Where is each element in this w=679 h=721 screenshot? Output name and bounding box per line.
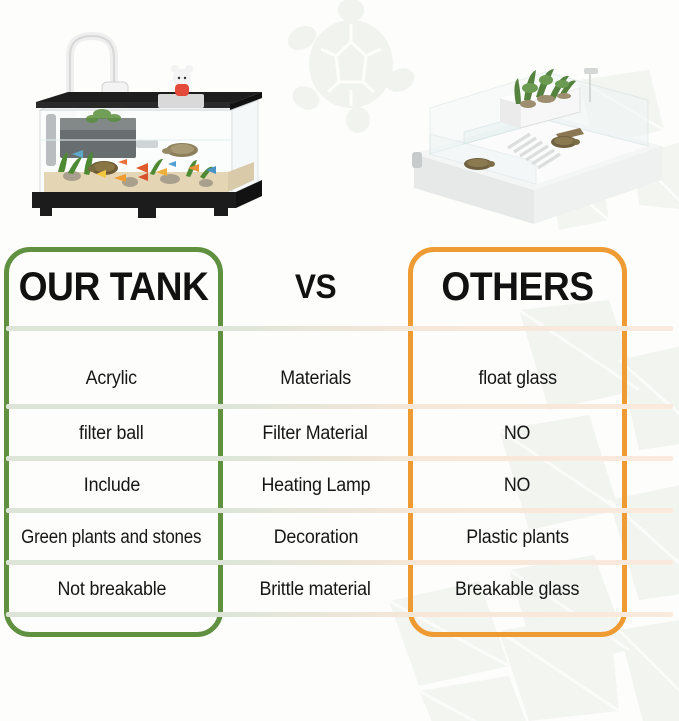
cell-feature: Filter Material (223, 408, 408, 460)
table-row: Include Heating Lamp NO (0, 460, 679, 512)
cell-feature: Heating Lamp (223, 460, 408, 512)
cell-ours: Green plants and stones (0, 512, 223, 564)
cell-ours: Acrylic (0, 353, 223, 405)
cell-feature: Brittle material (223, 564, 408, 616)
product-photos (0, 0, 679, 243)
cell-ours: Include (0, 460, 223, 512)
cell-spacer (627, 512, 679, 564)
cell-others: Breakable glass (408, 564, 627, 616)
cell-spacer (627, 460, 679, 512)
cell-others: Plastic plants (408, 512, 627, 564)
comparison-page: OUR TANK VS OTHERS Acrylic Materials flo… (0, 0, 679, 721)
table-row: filter ball Filter Material NO (0, 408, 679, 460)
our-tank-photo (10, 22, 330, 232)
table-row: Green plants and stones Decoration Plast… (0, 512, 679, 564)
table-row: Not breakable Brittle material Breakable… (0, 564, 679, 616)
comparison-table: OUR TANK VS OTHERS Acrylic Materials flo… (0, 243, 679, 643)
row-divider (6, 326, 673, 331)
table-row: Acrylic Materials float glass (0, 353, 679, 405)
cell-others: NO (408, 408, 627, 460)
others-tank-photo (404, 42, 672, 232)
our-tank-heading: OUR TANK (12, 251, 216, 323)
cell-spacer (627, 353, 679, 405)
cell-spacer (627, 408, 679, 460)
cell-ours: filter ball (0, 408, 223, 460)
cell-spacer (627, 564, 679, 616)
cell-feature: Materials (223, 353, 408, 405)
vs-heading: VS (229, 251, 401, 323)
cell-others: float glass (408, 353, 627, 405)
others-heading: OTHERS (416, 251, 620, 323)
cell-ours: Not breakable (0, 564, 223, 616)
cell-others: NO (408, 460, 627, 512)
cell-feature: Decoration (223, 512, 408, 564)
